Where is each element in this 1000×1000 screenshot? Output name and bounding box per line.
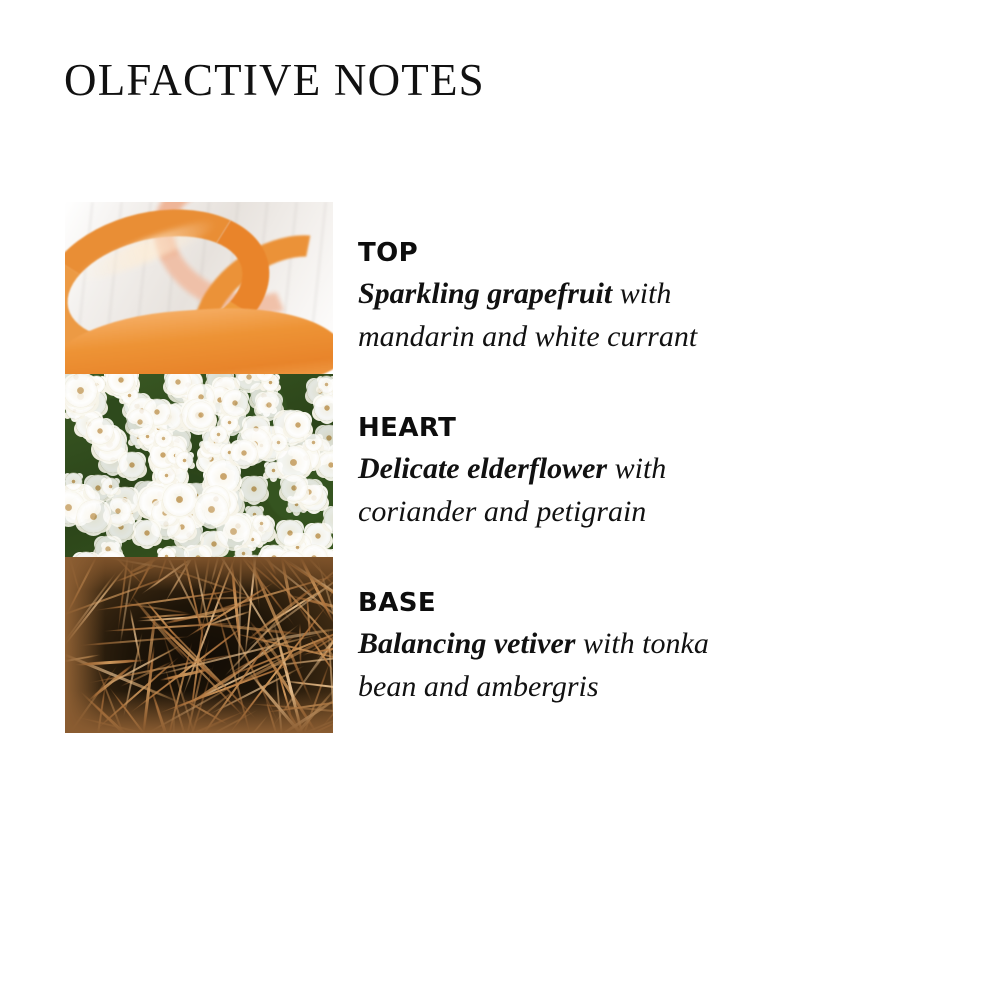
elderflower-blossom xyxy=(65,473,82,490)
elderflower-blossom xyxy=(127,409,153,435)
note-block-base: BASE Balancing vetiver with tonka bean a… xyxy=(358,590,918,708)
elderflower-blossom xyxy=(195,493,228,526)
elderflower-blossom xyxy=(241,476,267,502)
grapefruit-peel-photo xyxy=(65,202,333,374)
root-bottom-shading xyxy=(65,691,333,733)
elderflower-blossom xyxy=(77,500,110,533)
elderflower-blossom xyxy=(210,426,227,443)
note-description-top: Sparkling grapefruit with mandarin and w… xyxy=(358,273,758,358)
elderflower-blossom xyxy=(285,412,311,438)
elderflower-photo xyxy=(65,374,333,557)
elderflower-blossom xyxy=(318,452,333,478)
note-lead-heart: Delicate elderflower xyxy=(358,452,607,485)
note-label-base: BASE xyxy=(358,590,918,616)
page-title: OLFACTIVE NOTES xyxy=(64,58,485,103)
note-description-heart: Delicate elderflower with coriander and … xyxy=(358,448,758,533)
elderflower-blossom xyxy=(222,390,248,416)
note-block-heart: HEART Delicate elderflower with coriande… xyxy=(358,415,918,533)
note-label-top: TOP xyxy=(358,240,918,266)
olfactive-image-stack xyxy=(65,202,333,733)
elderflower-blossom-cluster xyxy=(65,374,333,557)
elderflower-blossom xyxy=(176,452,193,469)
elderflower-blossom xyxy=(119,452,145,478)
elderflower-blossom xyxy=(305,434,322,451)
elderflower-blossom xyxy=(253,515,270,532)
vetiver-roots-photo xyxy=(65,557,333,733)
elderflower-blossom xyxy=(102,478,119,495)
note-lead-top: Sparkling grapefruit xyxy=(358,277,612,310)
elderflower-blossom xyxy=(277,446,310,479)
elderflower-blossom xyxy=(256,392,282,418)
elderflower-blossom xyxy=(163,483,196,516)
elderflower-blossom xyxy=(277,520,303,546)
elderflower-blossom xyxy=(231,440,257,466)
elderflower-blossom xyxy=(134,520,160,546)
note-block-top: TOP Sparkling grapefruit with mandarin a… xyxy=(358,240,918,358)
elderflower-blossom xyxy=(87,418,113,444)
root-top-shading xyxy=(65,557,333,591)
elderflower-blossom xyxy=(281,475,307,501)
note-description-base: Balancing vetiver with tonka bean and am… xyxy=(358,623,758,708)
elderflower-blossom xyxy=(318,376,333,393)
elderflower-blossom xyxy=(314,395,333,421)
note-label-heart: HEART xyxy=(358,415,918,441)
note-lead-base: Balancing vetiver xyxy=(358,627,575,660)
